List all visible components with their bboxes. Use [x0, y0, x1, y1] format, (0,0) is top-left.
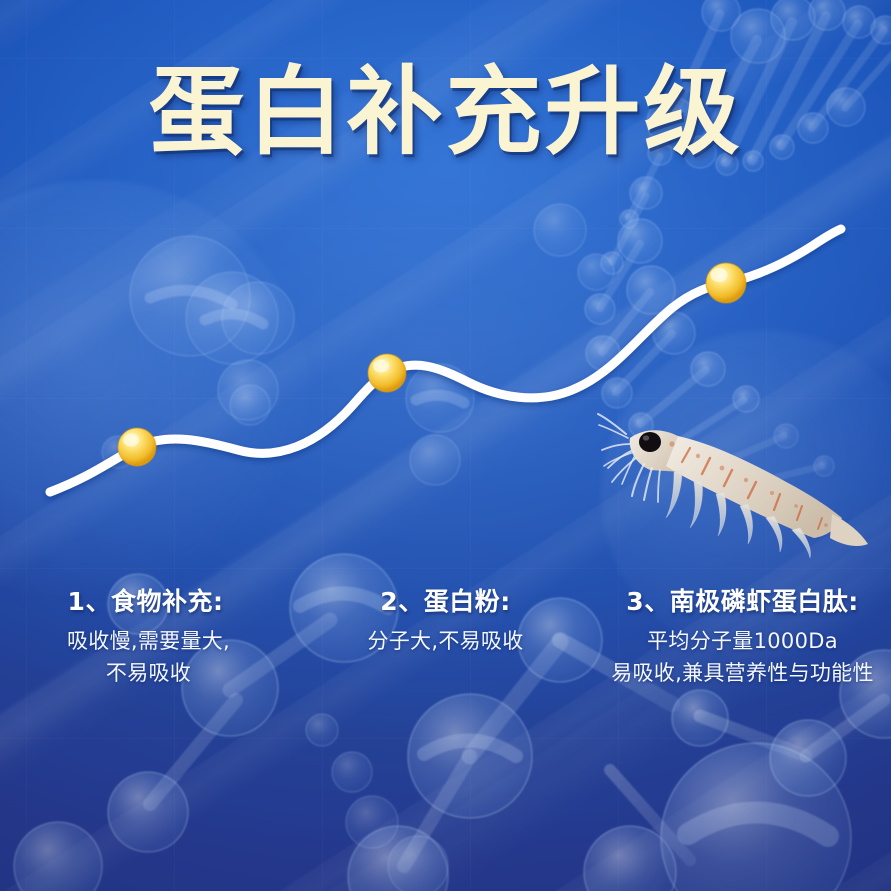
column-2-body: 分子大,不易吸收: [301, 626, 590, 658]
curve-node-3: [706, 263, 746, 303]
poster-canvas: 蛋白补充升级: [0, 0, 891, 891]
column-1-line-1: 吸收慢,需要量大,: [4, 626, 293, 658]
krill-tail: [830, 514, 868, 546]
poster-title-container: 蛋白补充升级: [0, 62, 891, 164]
column-protein-powder: 2、蛋白粉: 分子大,不易吸收: [297, 586, 594, 746]
krill-antennae: [598, 414, 636, 484]
column-2-heading: 2、蛋白粉:: [301, 586, 590, 617]
column-3-body: 平均分子量1000Da 易吸收,兼具营养性与功能性: [598, 626, 887, 690]
poster-title: 蛋白补充升级: [149, 62, 743, 164]
column-1-line-2: 不易吸收: [4, 658, 293, 690]
krill-eye: [639, 432, 661, 452]
curve-node-2: [368, 354, 406, 392]
antarctic-krill-image: [586, 398, 876, 570]
column-food-supplement: 1、食物补充: 吸收慢,需要量大, 不易吸收: [0, 586, 297, 746]
column-1-heading: 1、食物补充:: [4, 586, 293, 617]
column-3-line-2: 易吸收,兼具营养性与功能性: [598, 658, 887, 690]
curve-node-1: [118, 428, 156, 466]
column-krill-peptide: 3、南极磷虾蛋白肽: 平均分子量1000Da 易吸收,兼具营养性与功能性: [594, 586, 891, 746]
column-2-line-1: 分子大,不易吸收: [301, 626, 590, 658]
column-3-line-1: 平均分子量1000Da: [598, 626, 887, 658]
column-3-heading: 3、南极磷虾蛋白肽:: [598, 586, 887, 617]
column-1-body: 吸收慢,需要量大, 不易吸收: [4, 626, 293, 690]
comparison-columns: 1、食物补充: 吸收慢,需要量大, 不易吸收 2、蛋白粉: 分子大,不易吸收 3…: [0, 586, 891, 746]
